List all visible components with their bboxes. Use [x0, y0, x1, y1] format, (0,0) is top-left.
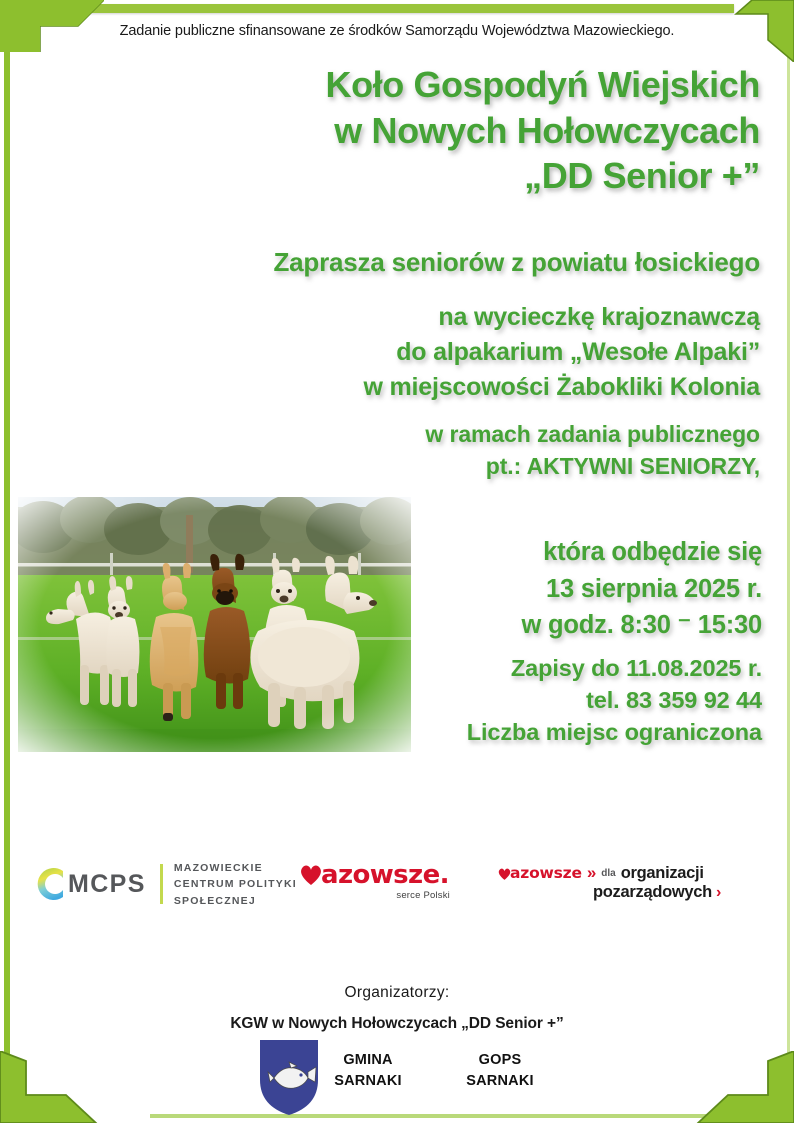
gops-sarnaki-label: GOPS SARNAKI [450, 1050, 550, 1092]
mcps-name-line-2: CENTRUM POLITYKI [174, 876, 297, 892]
chevron-right-icon: › [716, 884, 721, 902]
when-line-1: która odbędzie się [330, 534, 762, 571]
trip-line-2: do alpakarium „Wesołe Alpaki” [60, 335, 760, 370]
title-line-2: w Nowych Hołowczycach [120, 108, 760, 154]
page-title: Koło Gospodyń Wiejskich w Nowych Hołowcz… [120, 62, 760, 199]
invitation-text: Zaprasza seniorów z powiatu łosickiego [60, 246, 760, 279]
ngo-line-2: pozarządowych [593, 883, 712, 902]
mazowsze-logo: azowsze. serce Polski [298, 861, 478, 901]
task-line-1: w ramach zadania publicznego [60, 418, 760, 450]
frame-bottom-bar [150, 1114, 710, 1118]
signup-deadline: Zapisy do 11.08.2025 r. [330, 652, 762, 684]
task-line-2: pt.: AKTYWNI SENIORZY, [60, 450, 760, 482]
signup-limit: Liczba miejsc ograniczona [330, 716, 762, 748]
mazowsze-ngo-logo: azowsze » dla organizacji pozarządowych … [497, 863, 785, 902]
double-chevron-icon: » [587, 863, 596, 883]
frame-top-bar [62, 4, 734, 13]
gmina-line-1: GMINA [323, 1050, 413, 1071]
funding-note: Zadanie publiczne sfinansowane ze środkó… [0, 23, 794, 39]
signup-info: Zapisy do 11.08.2025 r. tel. 83 359 92 4… [330, 652, 762, 749]
corner-ornament-bottom-left [0, 1051, 130, 1123]
sarnaki-coat-of-arms [258, 1038, 320, 1116]
corner-ornament-bottom-right [664, 1051, 794, 1123]
signup-phone: tel. 83 359 92 44 [330, 684, 762, 716]
mazowsze-tagline: serce Polski [298, 890, 450, 901]
title-line-3: „DD Senior +” [120, 153, 760, 199]
event-datetime: która odbędzie się 13 sierpnia 2025 r. w… [330, 534, 762, 644]
mcps-name-line-3: SPOŁECZNEJ [174, 893, 297, 909]
organizers-label: Organizatorzy: [0, 984, 794, 1002]
mcps-logo: MCPS MAZOWIECKIE CENTRUM POLITYKI SPOŁEC… [30, 860, 297, 909]
organizer-kgw: KGW w Nowych Hołowczycach „DD Senior +” [0, 1015, 794, 1033]
when-line-2: 13 sierpnia 2025 r. [330, 571, 762, 608]
gops-line-1: GOPS [450, 1050, 550, 1071]
gops-line-2: SARNAKI [450, 1071, 550, 1092]
ngo-dla-label: dla [601, 868, 615, 879]
when-line-3: w godz. 8:30 ⁻ 15:30 [330, 607, 762, 644]
public-task-description: w ramach zadania publicznego pt.: AKTYWN… [60, 418, 760, 483]
mcps-c-icon [30, 863, 72, 905]
mcps-acronym: MCPS [68, 870, 146, 899]
mcps-fullname: MAZOWIECKIE CENTRUM POLITYKI SPOŁECZNEJ [174, 860, 297, 909]
poster-root: Zadanie publiczne sfinansowane ze środkó… [0, 0, 794, 1123]
trip-line-3: w miejscowości Żabokliki Kolonia [60, 370, 760, 405]
gmina-sarnaki-label: GMINA SARNAKI [323, 1050, 413, 1092]
sponsor-logo-row: MCPS MAZOWIECKIE CENTRUM POLITYKI SPOŁEC… [0, 855, 794, 925]
mcps-name-line-1: MAZOWIECKIE [174, 860, 297, 876]
trip-description: na wycieczkę krajoznawczą do alpakarium … [60, 300, 760, 404]
gmina-line-2: SARNAKI [323, 1071, 413, 1092]
mcps-divider [160, 864, 163, 904]
title-line-1: Koło Gospodyń Wiejskich [120, 62, 760, 108]
mazowsze-wordmark: azowsze. [321, 862, 449, 888]
trip-line-1: na wycieczkę krajoznawczą [60, 300, 760, 335]
ngo-mazowsze-wordmark: azowsze [510, 864, 582, 882]
ngo-line-1: organizacji [621, 864, 704, 883]
